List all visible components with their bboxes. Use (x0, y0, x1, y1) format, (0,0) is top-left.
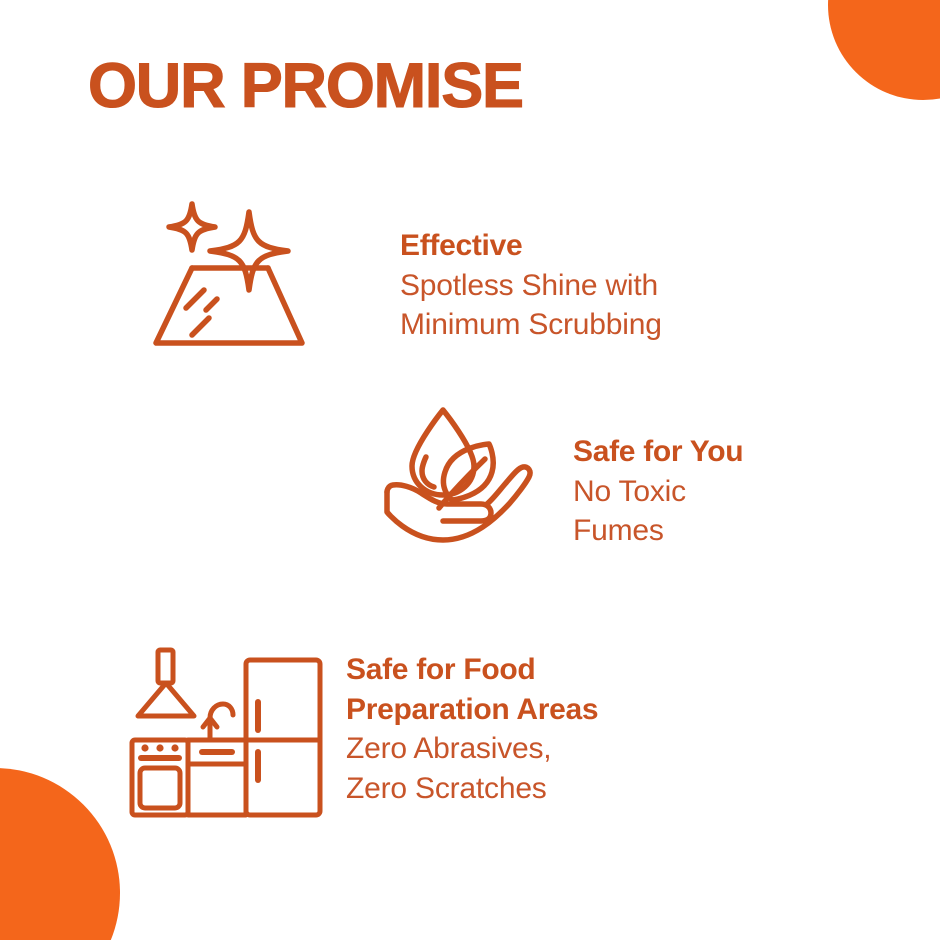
kitchen-appliances-icon (126, 640, 326, 818)
corner-blob-bottom-left-icon (0, 768, 120, 940)
feature-text-effective: Effective Spotless Shine with Minimum Sc… (400, 196, 662, 345)
page-title: OUR PROMISE (88, 54, 523, 118)
promise-poster: OUR PROMISE Effective Spotless Shine wit… (0, 0, 940, 940)
feature-body: Spotless Shine with Minimum Scrubbing (400, 266, 662, 345)
sparkle-clean-surface-icon (130, 196, 330, 348)
feature-body: No Toxic Fumes (573, 472, 743, 551)
feature-heading: Safe for Food Preparation Areas (346, 650, 598, 729)
hand-holding-droplet-leaf-icon (381, 400, 541, 546)
feature-item-safe-for-food-prep: Safe for Food Preparation Areas Zero Abr… (126, 640, 598, 818)
feature-heading: Effective (400, 226, 662, 266)
feature-text-safe-for-you: Safe for You No Toxic Fumes (573, 400, 743, 551)
feature-body: Zero Abrasives, Zero Scratches (346, 729, 598, 808)
feature-text-safe-for-food-prep: Safe for Food Preparation Areas Zero Abr… (346, 640, 598, 808)
feature-heading: Safe for You (573, 432, 743, 472)
corner-blob-top-right-icon (828, 0, 940, 100)
feature-item-effective: Effective Spotless Shine with Minimum Sc… (130, 196, 662, 348)
feature-item-safe-for-you: Safe for You No Toxic Fumes (381, 400, 743, 551)
